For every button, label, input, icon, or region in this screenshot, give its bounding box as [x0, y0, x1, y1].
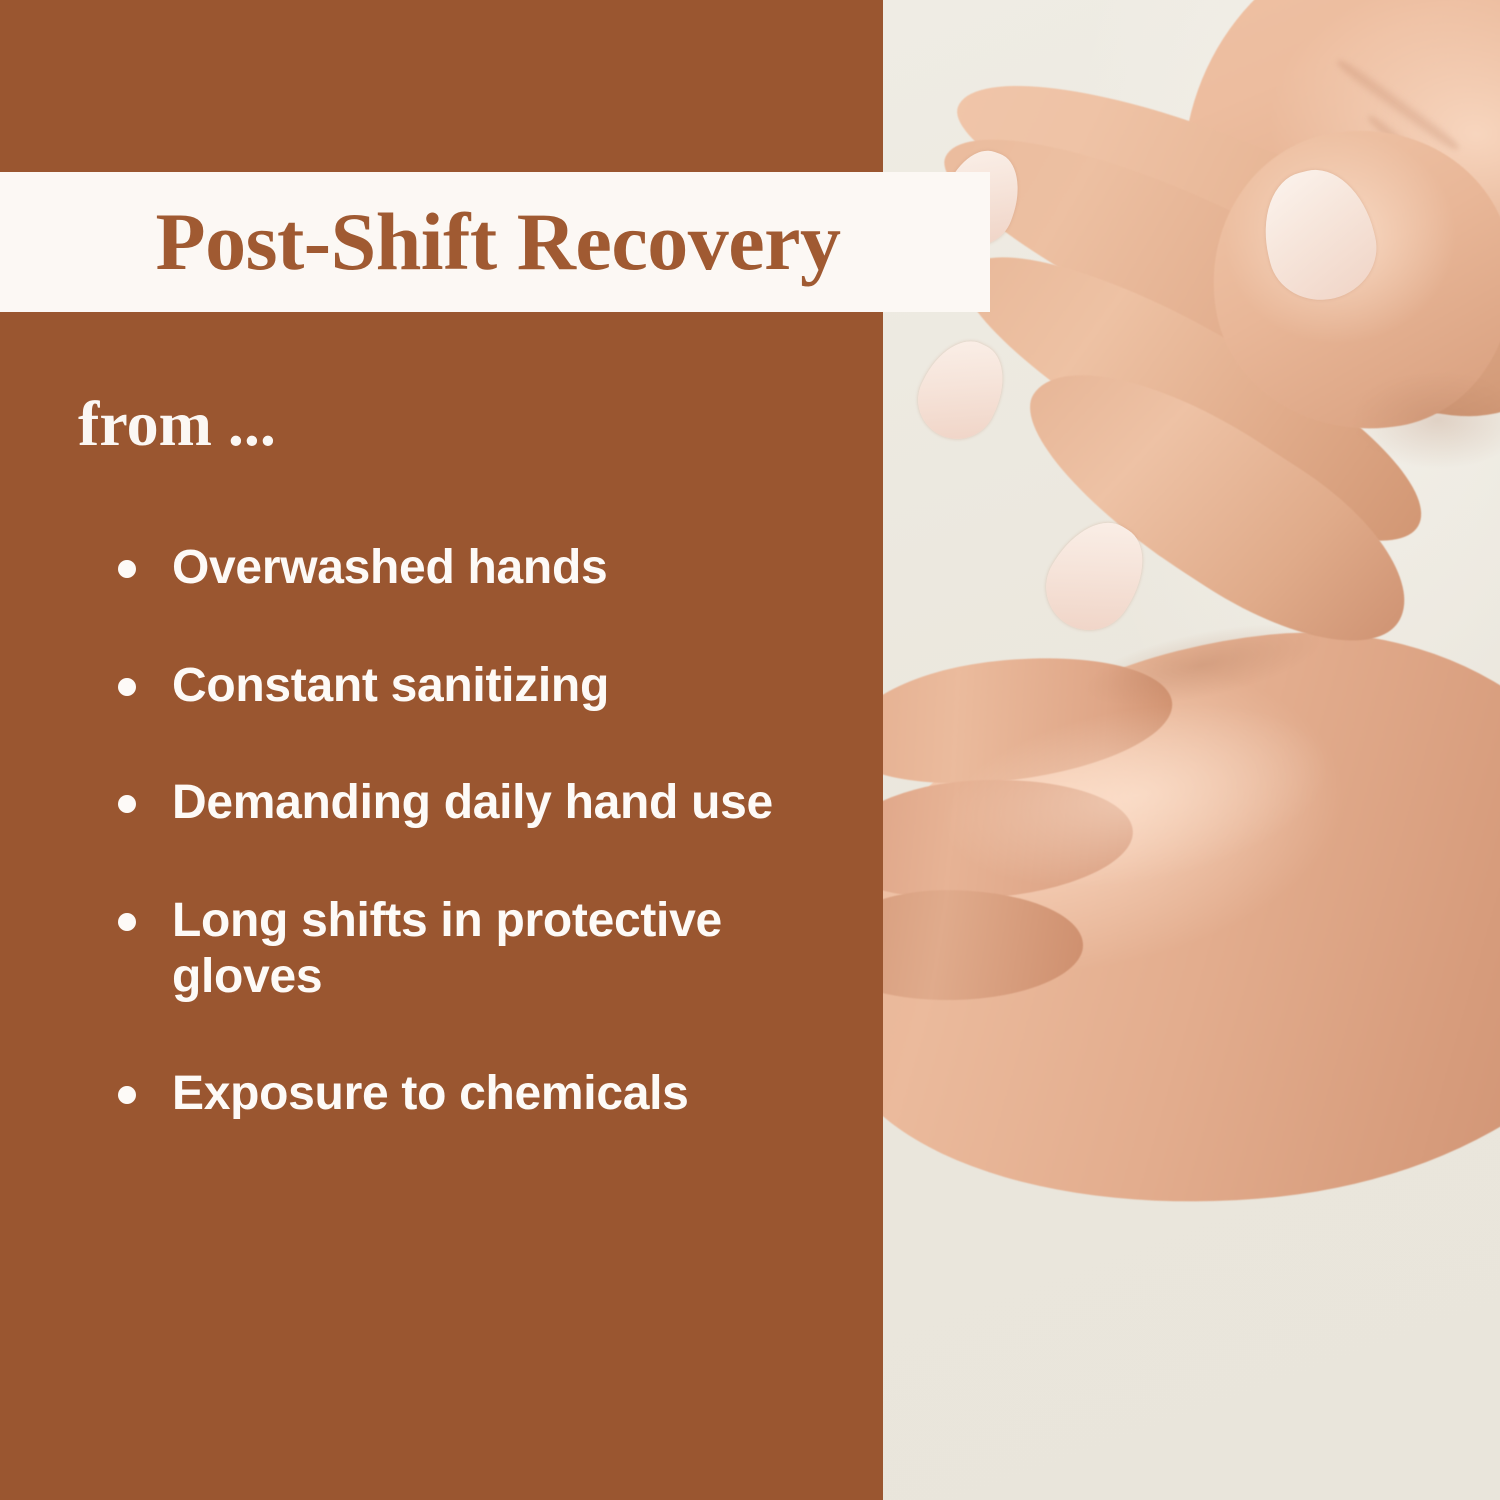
title-band: Post-Shift Recovery [0, 172, 990, 312]
list-item-label: Overwashed hands [172, 540, 810, 596]
intro-label: from ... [78, 392, 276, 456]
list-item: Demanding daily hand use [110, 775, 810, 831]
promo-graphic: Post-Shift Recovery from ... Overwashed … [0, 0, 1500, 1500]
bullet-dot-icon [118, 795, 136, 813]
list-item-label: Demanding daily hand use [172, 775, 810, 831]
bullet-dot-icon [118, 913, 136, 931]
list-item: Constant sanitizing [110, 658, 810, 714]
list-item: Long shifts in protective gloves [110, 893, 810, 1004]
list-item-label: Constant sanitizing [172, 658, 810, 714]
list-item-label: Long shifts in protective gloves [172, 893, 810, 1004]
list-item-label: Exposure to chemicals [172, 1066, 810, 1122]
bullet-dot-icon [118, 678, 136, 696]
bullet-dot-icon [118, 560, 136, 578]
list-item: Exposure to chemicals [110, 1066, 810, 1122]
concerns-list: Overwashed hands Constant sanitizing Dem… [110, 540, 810, 1122]
bullet-dot-icon [118, 1086, 136, 1104]
list-item: Overwashed hands [110, 540, 810, 596]
page-title: Post-Shift Recovery [149, 201, 840, 283]
